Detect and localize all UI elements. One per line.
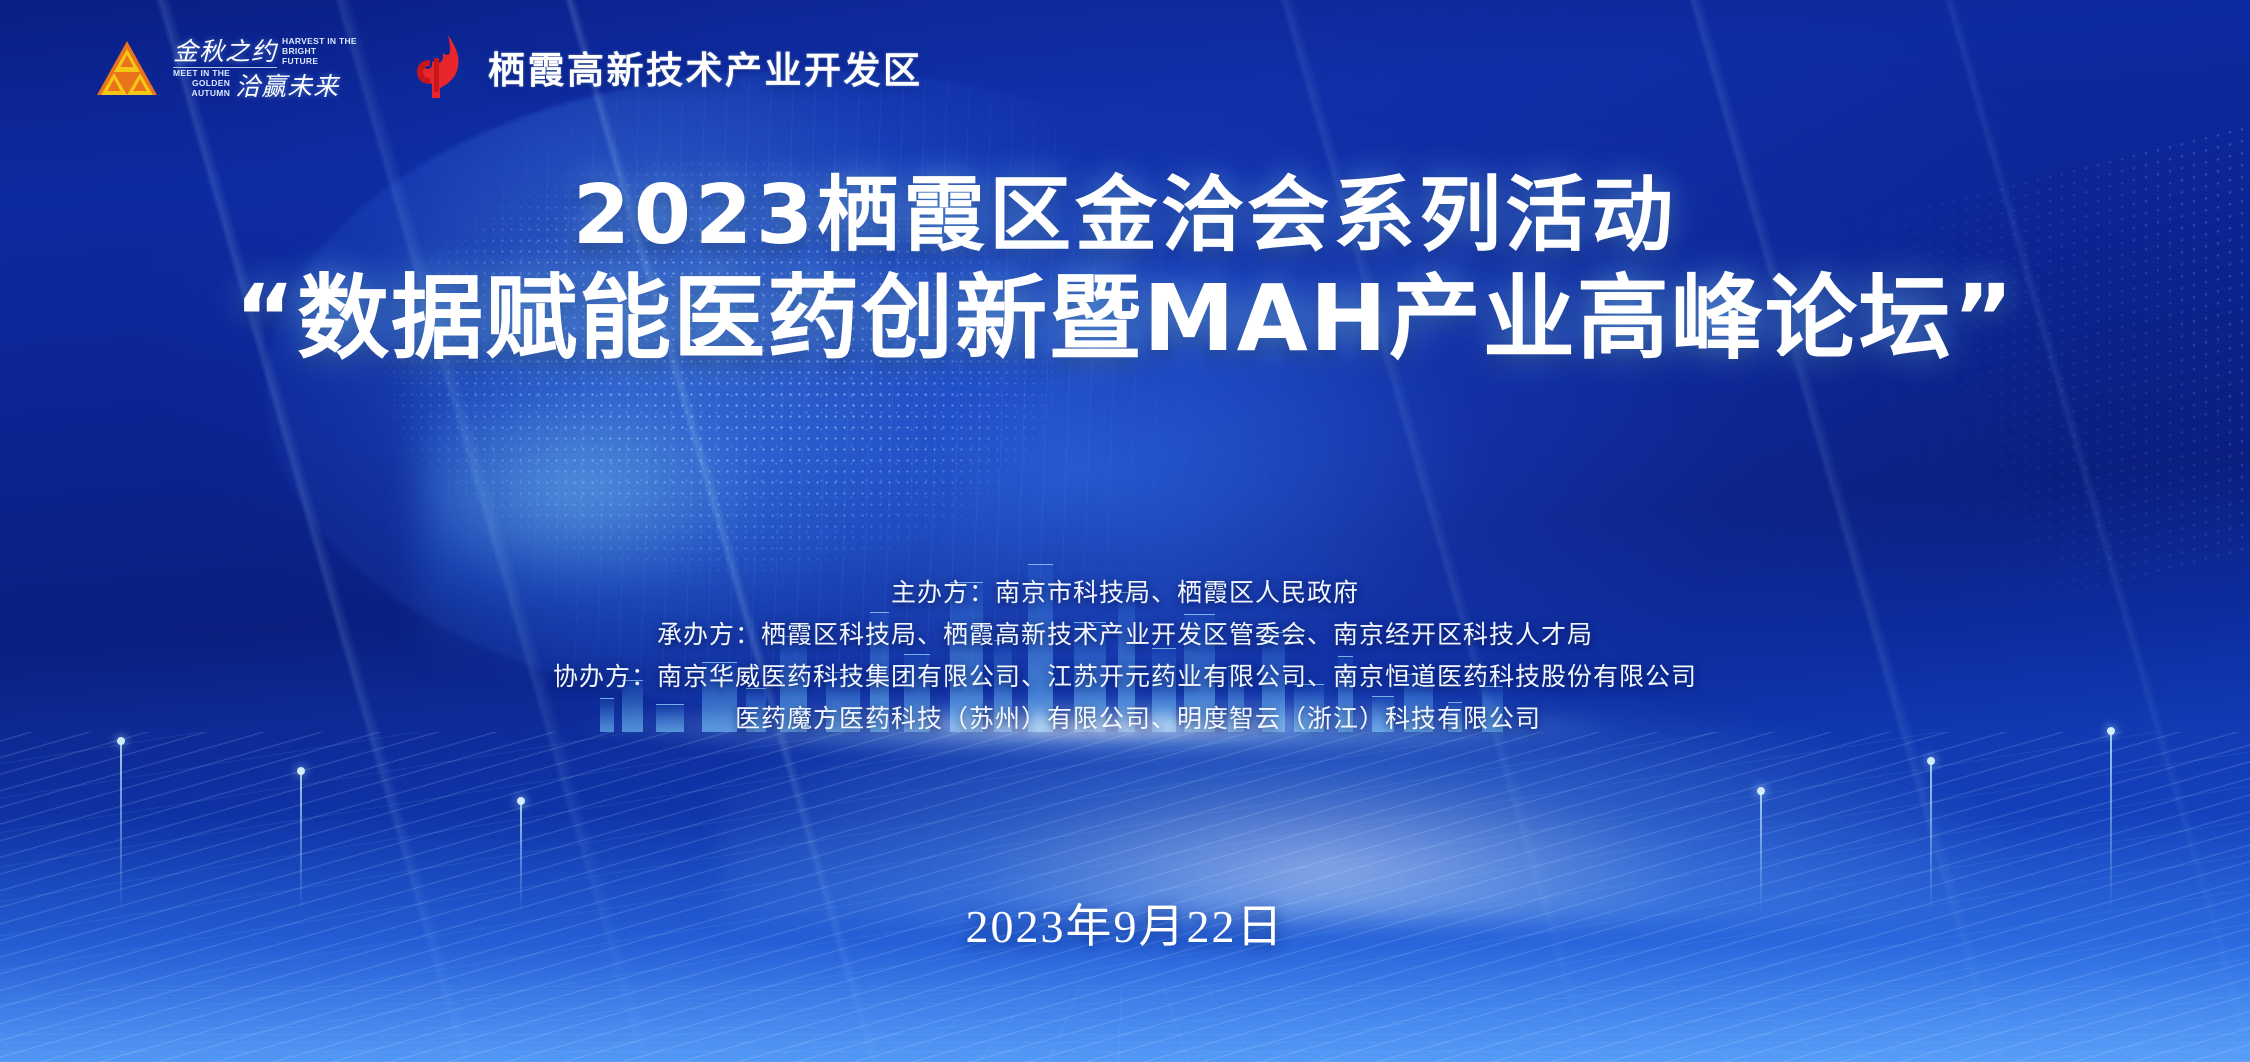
wordmark-en-left-3: AUTUMN [173, 88, 230, 98]
title-line-2: “数据赋能医药创新暨MAH产业高峰论坛” [0, 244, 2250, 377]
wordmark-en-left: MEET IN THE GOLDEN AUTUMN [173, 68, 230, 100]
coorganizer-line-1: 协办方：南京华威医药科技集团有限公司、江苏开元药业有限公司、南京恒道医药科技股份… [0, 656, 2250, 698]
wordmark-cn-line2: 洽赢未来 [235, 75, 339, 100]
wordmark-en-right: HARVEST IN THE BRIGHT FUTURE [282, 36, 357, 68]
wordmark-row-bottom: MEET IN THE GOLDEN AUTUMN 洽赢未来 [173, 68, 357, 100]
poster-header: 金秋之约 HARVEST IN THE BRIGHT FUTURE MEET I… [0, 0, 2250, 140]
qixia-zone-logo: 栖霞高新技术产业开发区 [410, 34, 923, 100]
golden-autumn-logo: 金秋之约 HARVEST IN THE BRIGHT FUTURE MEET I… [95, 38, 357, 98]
wordmark-en-right-2: BRIGHT [282, 46, 357, 56]
wordmark-cn-line1: 金秋之约 [173, 40, 277, 65]
poster-canvas: 金秋之约 HARVEST IN THE BRIGHT FUTURE MEET I… [0, 0, 2250, 1062]
light-pole [2110, 732, 2112, 912]
qixia-zone-label: 栖霞高新技术产业开发区 [488, 40, 923, 94]
light-pole [120, 742, 122, 912]
coorganizer-line-2: 医药魔方医药科技（苏州）有限公司、明度智云（浙江）科技有限公司 [0, 698, 2250, 740]
wordmark-row-top: 金秋之约 HARVEST IN THE BRIGHT FUTURE [173, 36, 357, 68]
organizer-info-block: 主办方：南京市科技局、栖霞区人民政府 承办方：栖霞区科技局、栖霞高新技术产业开发… [0, 572, 2250, 740]
host-line: 主办方：南京市科技局、栖霞区人民政府 [0, 572, 2250, 614]
sierpinski-triangle-logo-icon [95, 39, 159, 97]
wordmark-en-right-3: FUTURE [282, 56, 357, 66]
event-date: 2023年9月22日 [0, 890, 2250, 956]
wordmark-en-left-2: GOLDEN [173, 78, 230, 88]
wordmark-en-left-1: MEET IN THE [173, 68, 230, 78]
organizer-line: 承办方：栖霞区科技局、栖霞高新技术产业开发区管委会、南京经开区科技人才局 [0, 614, 2250, 656]
red-flame-emblem-icon [410, 34, 472, 100]
wordmark-en-right-1: HARVEST IN THE [282, 36, 357, 46]
golden-autumn-wordmark: 金秋之约 HARVEST IN THE BRIGHT FUTURE MEET I… [173, 38, 357, 98]
